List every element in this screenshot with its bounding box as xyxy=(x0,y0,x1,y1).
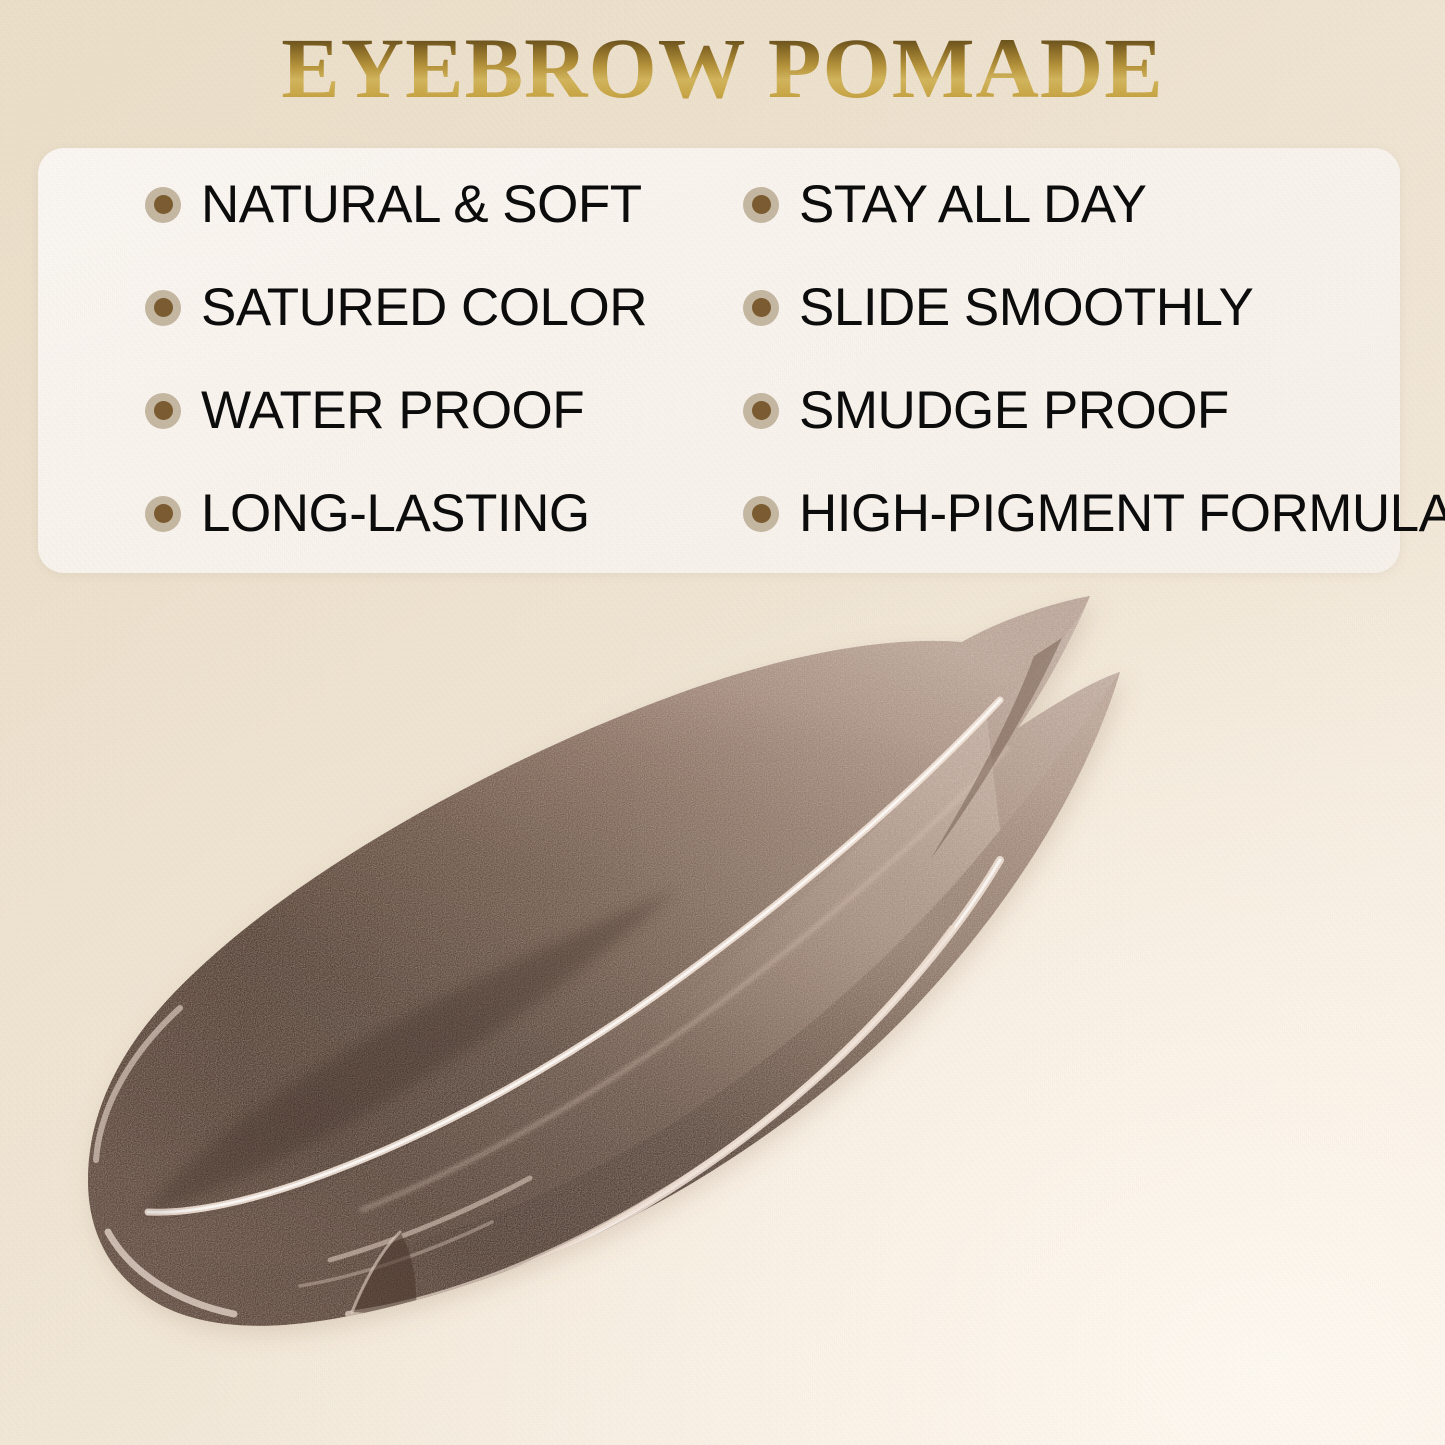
bullet-dot-icon xyxy=(743,187,779,223)
bullet-dot-icon xyxy=(145,187,181,223)
page-title: EYEBROW POMADE xyxy=(0,22,1445,115)
feature-item-smudge-proof: SMUDGE PROOF xyxy=(688,359,1445,462)
feature-item-satured-color: SATURED COLOR xyxy=(38,256,688,359)
feature-list-card: NATURAL & SOFT STAY ALL DAY SATURED COLO… xyxy=(38,148,1400,573)
bullet-dot-icon xyxy=(743,393,779,429)
bullet-dot-icon xyxy=(743,290,779,326)
feature-label: SATURED COLOR xyxy=(201,281,647,334)
feature-item-long-lasting: LONG-LASTING xyxy=(38,462,688,565)
feature-item-water-proof: WATER PROOF xyxy=(38,359,688,462)
feature-item-stay-all-day: STAY ALL DAY xyxy=(688,153,1445,256)
feature-label: LONG-LASTING xyxy=(201,487,590,540)
feature-label: SLIDE SMOOTHLY xyxy=(799,281,1253,334)
feature-label: HIGH-PIGMENT FORMULA xyxy=(799,487,1445,540)
feature-grid: NATURAL & SOFT STAY ALL DAY SATURED COLO… xyxy=(38,148,1400,573)
feature-label: NATURAL & SOFT xyxy=(201,178,642,231)
feature-label: WATER PROOF xyxy=(201,384,584,437)
bullet-dot-icon xyxy=(145,290,181,326)
feature-label: SMUDGE PROOF xyxy=(799,384,1229,437)
bullet-dot-icon xyxy=(743,496,779,532)
feature-item-natural-soft: NATURAL & SOFT xyxy=(38,153,688,256)
bullet-dot-icon xyxy=(145,393,181,429)
feature-item-slide-smoothly: SLIDE SMOOTHLY xyxy=(688,256,1445,359)
product-swatch-image xyxy=(0,560,1445,1445)
product-feature-graphic: EYEBROW POMADE NATURAL & SOFT STAY ALL D… xyxy=(0,0,1445,1445)
bullet-dot-icon xyxy=(145,496,181,532)
product-swatch xyxy=(0,560,1445,1445)
feature-label: STAY ALL DAY xyxy=(799,178,1147,231)
feature-item-high-pigment-formula: HIGH-PIGMENT FORMULA xyxy=(688,462,1445,565)
